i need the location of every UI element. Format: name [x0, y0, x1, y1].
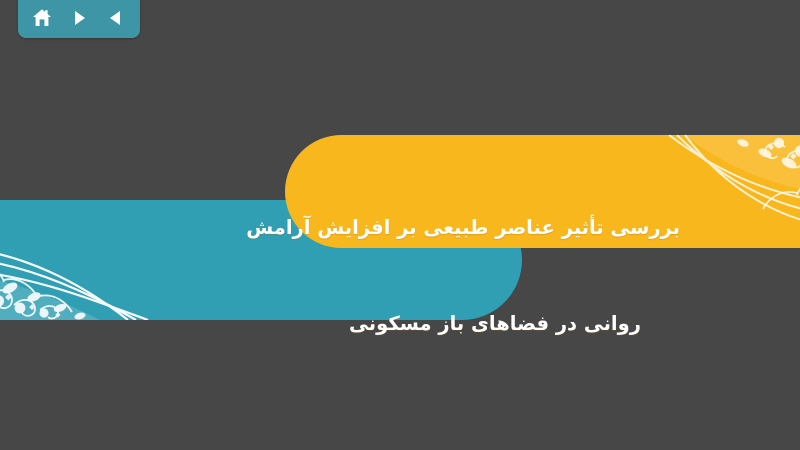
presentation-slide: بررسی تأثیر عناصر طبیعی بر افزایش آرامش …	[0, 0, 800, 450]
home-button[interactable]	[28, 5, 56, 31]
title-line-2: روانی در فضاهای باز مسکونی	[310, 308, 680, 340]
home-icon	[31, 7, 53, 29]
title-line-1: بررسی تأثیر عناصر طبیعی بر افزایش آرامش	[310, 212, 680, 244]
arabesque-ornament	[0, 200, 190, 320]
forward-icon	[69, 8, 89, 28]
back-icon	[106, 8, 126, 28]
page-title: بررسی تأثیر عناصر طبیعی بر افزایش آرامش …	[310, 148, 680, 404]
forward-button[interactable]	[65, 5, 93, 31]
navigation-toolbar	[18, 0, 140, 38]
back-button[interactable]	[102, 5, 130, 31]
